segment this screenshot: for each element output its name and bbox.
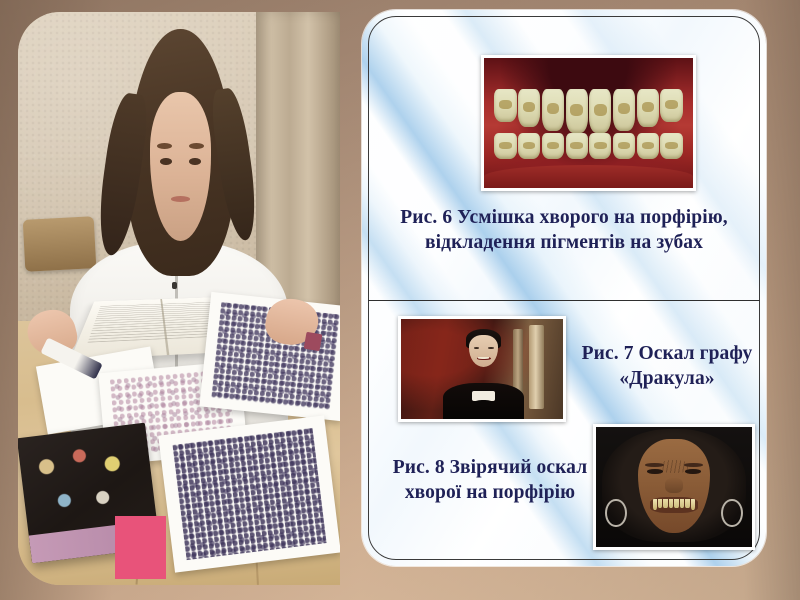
lower-teeth-row xyxy=(494,133,682,164)
mouth xyxy=(171,196,191,202)
tooth xyxy=(669,499,673,508)
eye-right xyxy=(488,347,493,349)
tooth xyxy=(613,133,635,159)
figure-6-caption: Рис. 6 Усмішка хворого на порфірію, відк… xyxy=(398,206,730,255)
tooth xyxy=(663,499,667,508)
book-bookmark xyxy=(115,516,167,579)
chair-back xyxy=(23,216,96,271)
bared-teeth xyxy=(650,497,699,513)
tooth xyxy=(542,89,564,131)
sheet-texture xyxy=(173,427,327,559)
forehead-wrinkles xyxy=(660,460,689,473)
stone-column xyxy=(529,325,544,409)
tooth xyxy=(653,499,657,510)
figure-8-caption: Рис. 8 Звірячий оскал хворої на порфірію xyxy=(384,456,596,505)
wrist-band xyxy=(303,332,322,352)
dracula-portrait-photo xyxy=(398,316,566,422)
porphyria-patient-photo xyxy=(593,424,755,550)
tooth xyxy=(637,133,659,159)
lower-lip xyxy=(484,165,693,188)
tooth xyxy=(589,89,611,133)
nose xyxy=(665,478,682,493)
teeth-pigmentation-photo xyxy=(481,55,696,191)
tooth xyxy=(542,133,564,159)
eye-left xyxy=(647,469,663,474)
bared-teeth xyxy=(477,357,491,361)
slide-canvas: Рис. 6 Усмішка хворого на порфірію, відк… xyxy=(0,0,800,600)
eye-left xyxy=(474,347,479,349)
tooth xyxy=(589,133,611,159)
eye-right xyxy=(685,469,701,474)
tooth xyxy=(518,133,540,159)
tooth xyxy=(566,133,588,159)
eye-right xyxy=(189,158,201,165)
upper-teeth-row xyxy=(494,89,682,133)
eye-left xyxy=(160,158,172,165)
tooth xyxy=(691,499,695,510)
tooth xyxy=(660,133,682,159)
bow-tie xyxy=(474,400,493,407)
tooth xyxy=(518,89,540,127)
tooth xyxy=(566,89,588,133)
earring-right xyxy=(721,499,742,527)
student-photo-content xyxy=(18,12,340,585)
student-study-photo xyxy=(18,12,340,585)
tooth xyxy=(637,89,659,127)
tooth xyxy=(680,499,684,508)
teeth-row xyxy=(653,499,696,508)
figures-panel: Рис. 6 Усмішка хворого на порфірію, відк… xyxy=(362,10,766,566)
eyebrow-right xyxy=(189,143,204,149)
tooth xyxy=(658,499,662,508)
coat-button-upper xyxy=(172,282,177,289)
tooth xyxy=(494,133,516,159)
tooth xyxy=(674,499,678,508)
tooth xyxy=(660,89,682,122)
earring-left xyxy=(605,499,626,527)
eyebrow-right xyxy=(684,463,703,467)
tooth xyxy=(685,499,689,508)
histology-printout xyxy=(158,415,340,572)
tooth xyxy=(613,89,635,131)
figure-7-caption: Рис. 7 Оскал графу «Дракула» xyxy=(576,342,758,391)
panel-content: Рис. 6 Усмішка хворого на порфірію, відк… xyxy=(362,10,766,566)
tooth xyxy=(494,89,516,122)
eyebrow-left xyxy=(157,143,172,149)
